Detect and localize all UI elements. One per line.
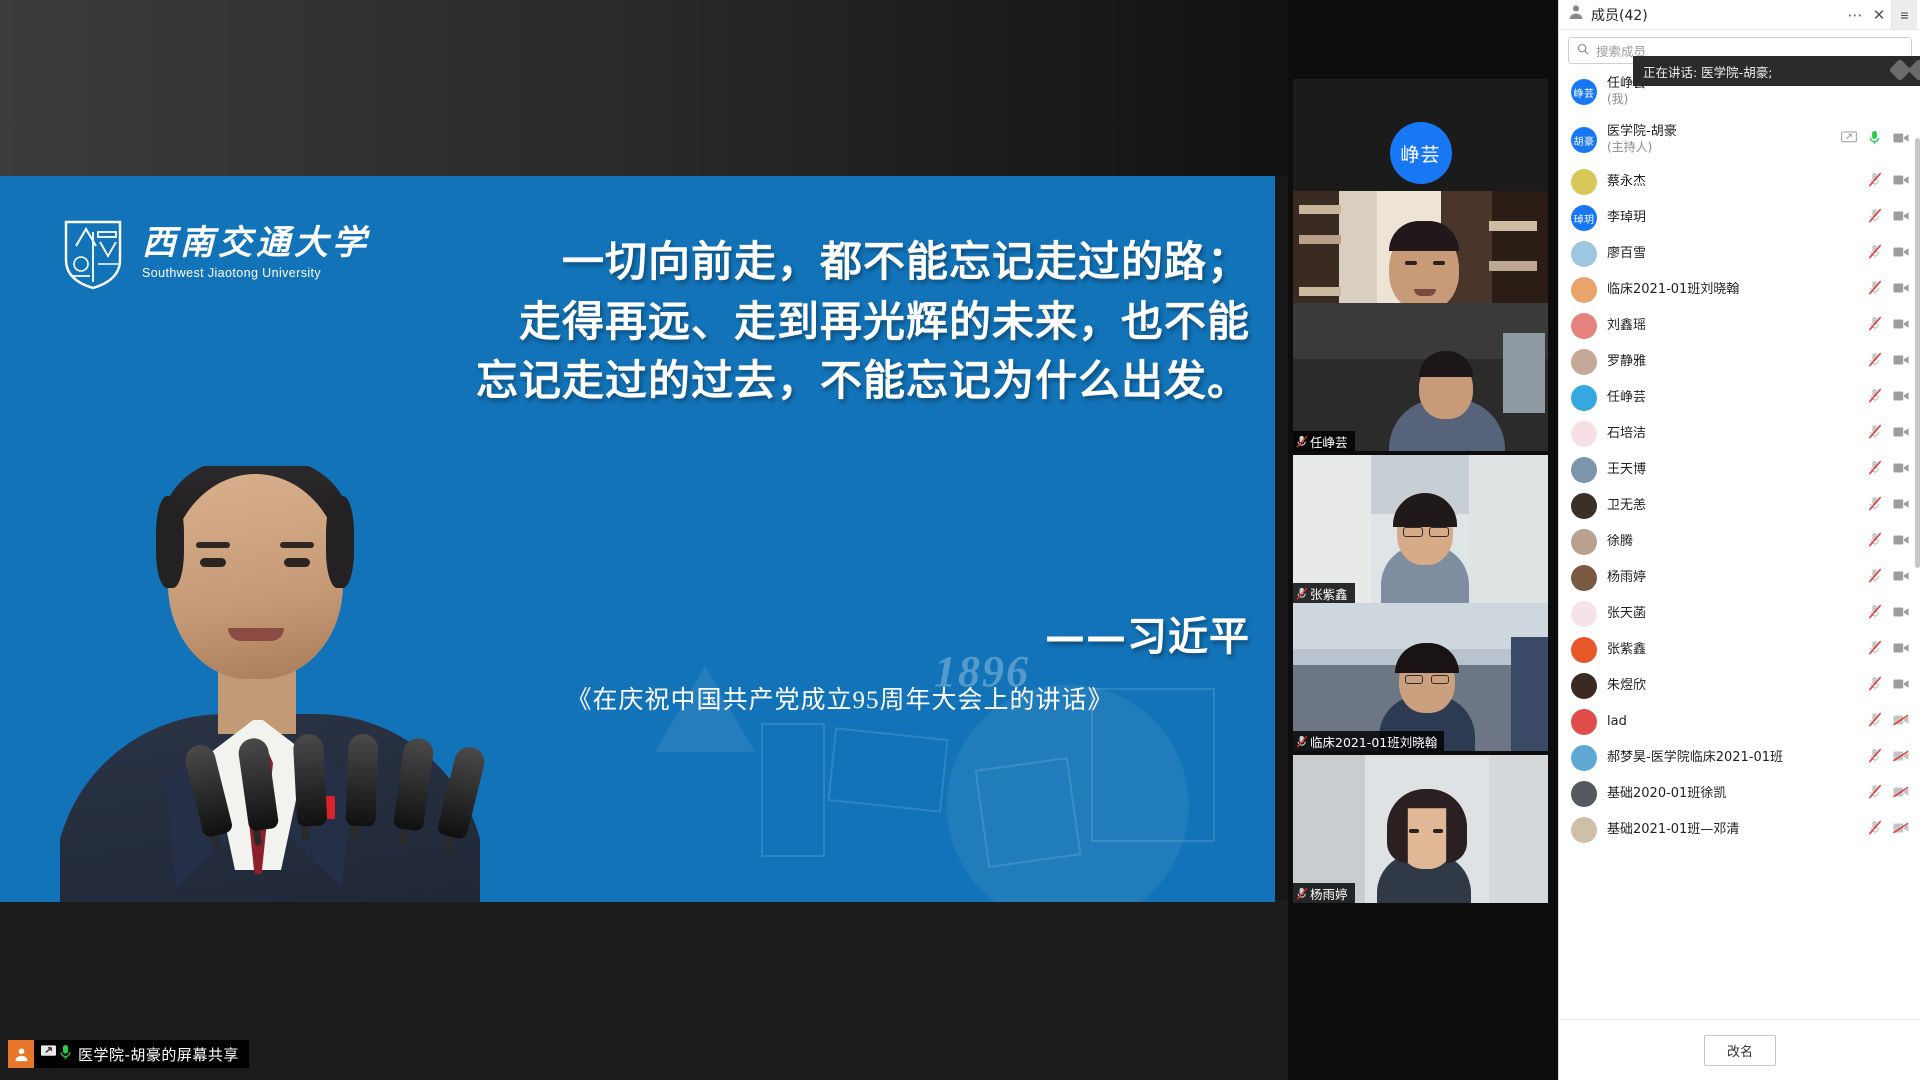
quote-line: 忘记走过的过去，不能忘记为什么出发。 (370, 351, 1250, 411)
participant-name: 基础2020-01班徐凯 (1607, 786, 1868, 802)
participant-status-icons (1868, 280, 1911, 300)
thumbnail-name: 临床2021-01班刘晓翰 (1310, 732, 1437, 751)
microphone-muted-icon (1293, 583, 1310, 603)
participants-panel-header: 成员(42) ⋯ ✕ ≡ (1559, 0, 1920, 30)
more-options-button[interactable]: ⋯ (1843, 3, 1867, 27)
microphone-muted-icon[interactable] (1868, 424, 1882, 444)
speaking-tooltip: 正在讲话: 医学院-胡豪; (1633, 56, 1920, 86)
participant-row[interactable]: 蔡永杰 (1559, 164, 1920, 200)
avatar (1571, 781, 1597, 807)
hamburger-menu-icon[interactable]: ≡ (1891, 0, 1917, 29)
avatar (1571, 565, 1597, 591)
participant-name-block: 刘鑫瑶 (1607, 318, 1868, 334)
screen-share-icon[interactable] (1841, 131, 1857, 149)
participant-row[interactable]: 基础2021-01班—邓清 (1559, 812, 1920, 848)
participant-name-block: 王天博 (1607, 462, 1868, 478)
microphone-muted-icon[interactable] (1868, 748, 1882, 768)
participant-name: 张紫鑫 (1607, 642, 1868, 658)
microphone-muted-icon[interactable] (1868, 604, 1882, 624)
participant-row[interactable]: 罗静雅 (1559, 344, 1920, 380)
participant-row[interactable]: 基础2020-01班徐凯 (1559, 776, 1920, 812)
avatar (1571, 745, 1597, 771)
camera-off-icon[interactable] (1893, 785, 1909, 803)
participant-row[interactable]: 杨雨婷 (1559, 560, 1920, 596)
camera-icon[interactable] (1893, 317, 1909, 335)
participant-name: 徐腾 (1607, 534, 1868, 550)
participant-name: lad (1607, 714, 1868, 730)
camera-icon[interactable] (1893, 641, 1909, 659)
participant-name-block: 张天菡 (1607, 606, 1868, 622)
camera-icon[interactable] (1893, 461, 1909, 479)
participant-name: 基础2021-01班—邓清 (1607, 822, 1868, 838)
avatar (1571, 529, 1597, 555)
participant-status-icons (1868, 244, 1911, 264)
avatar (1571, 313, 1597, 339)
participant-name-block: 徐腾 (1607, 534, 1868, 550)
avatar (1571, 457, 1597, 483)
avatar: 琸玥 (1571, 205, 1597, 231)
participant-row[interactable]: 琸玥李琸玥 (1559, 200, 1920, 236)
participant-status-icons (1868, 208, 1911, 228)
participant-name: 刘鑫瑶 (1607, 318, 1868, 334)
speaking-tooltip-text: 正在讲话: 医学院-胡豪; (1643, 62, 1772, 81)
microphone-muted-icon (1293, 731, 1310, 751)
microphone-muted-icon (1293, 431, 1310, 451)
avatar (1571, 241, 1597, 267)
participant-name: 郝梦昊-医学院临床2021-01班 (1607, 750, 1868, 766)
participant-row[interactable]: 张紫鑫 (1559, 632, 1920, 668)
speaker-photo (60, 466, 480, 902)
participant-name: 卫无恙 (1607, 498, 1868, 514)
participant-row[interactable]: 卫无恙 (1559, 488, 1920, 524)
participant-status-icons (1868, 496, 1911, 516)
participant-name: 石培洁 (1607, 426, 1868, 442)
camera-icon[interactable] (1893, 497, 1909, 515)
stage-top-letterbox (0, 0, 1288, 176)
search-icon (1577, 42, 1589, 60)
participant-row[interactable]: 郝梦昊-医学院临床2021-01班 (1559, 740, 1920, 776)
microphone-muted-icon[interactable] (1868, 712, 1882, 732)
thumbnail-name-label: 杨雨婷 (1293, 883, 1355, 903)
avatar (1571, 493, 1597, 519)
avatar (1571, 601, 1597, 627)
participants-list[interactable]: 峥芸任峥芸(我)胡豪医学院-胡豪(主持人)蔡永杰琸玥李琸玥廖百雪临床2021-0… (1559, 68, 1920, 1020)
participant-name: 杨雨婷 (1607, 570, 1868, 586)
camera-off-icon[interactable] (1893, 749, 1909, 767)
rename-button[interactable]: 改名 (1704, 1035, 1776, 1066)
screen-share-icon (40, 1044, 57, 1064)
slide-attribution: ——习近平 《在庆祝中国共产党成立95周年大会上的讲话》 (520, 604, 1250, 716)
screen-share-label: 医学院-胡豪的屏幕共享 (78, 1044, 239, 1065)
thumbnail-tile[interactable]: 杨雨婷 (1293, 755, 1548, 903)
participant-status-icons (1868, 712, 1911, 732)
camera-icon[interactable] (1893, 353, 1909, 371)
participant-status-icons (1868, 424, 1911, 444)
participant-name-block: 廖百雪 (1607, 246, 1868, 262)
participant-status-icons (1868, 532, 1911, 552)
presentation-slide: 1896 (0, 176, 1275, 902)
participant-name: 任峥芸 (1607, 390, 1868, 406)
camera-icon[interactable] (1893, 533, 1909, 551)
participant-status-icons (1868, 460, 1911, 480)
participants-panel-footer: 改名 (1559, 1019, 1920, 1080)
thumbnail-name: 张紫鑫 (1310, 584, 1348, 603)
camera-icon[interactable] (1893, 677, 1909, 695)
participant-role-tag: (我) (1607, 92, 1868, 108)
camera-icon[interactable] (1893, 245, 1909, 263)
camera-icon[interactable] (1893, 569, 1909, 587)
microphone-muted-icon[interactable] (1868, 784, 1882, 804)
microphone-muted-icon[interactable] (1868, 532, 1882, 552)
tooltip-decoration (1892, 62, 1920, 78)
scrollbar-thumb[interactable] (1915, 138, 1920, 568)
microphone-muted-icon[interactable] (1868, 280, 1882, 300)
microphone-muted-icon[interactable] (1868, 172, 1882, 192)
participant-name-block: 石培洁 (1607, 426, 1868, 442)
participant-name: 医学院-胡豪 (1607, 124, 1841, 140)
thumbnail-tile[interactable]: 张紫鑫 (1293, 455, 1548, 603)
participant-status-icons (1868, 748, 1911, 768)
camera-icon[interactable] (1893, 131, 1909, 149)
thumbnail-name-label: 临床2021-01班刘晓翰 (1293, 731, 1444, 751)
participant-name: 罗静雅 (1607, 354, 1868, 370)
thumbnail-avatar: 峥芸 (1390, 122, 1452, 184)
participant-row[interactable]: 徐腾 (1559, 524, 1920, 560)
participant-status-icons (1868, 820, 1911, 840)
participant-row[interactable]: lad (1559, 704, 1920, 740)
participant-name-block: 罗静雅 (1607, 354, 1868, 370)
participants-count-title: 成员(42) (1591, 5, 1843, 25)
slide-deco-shape (761, 723, 825, 857)
thumbnail-tile[interactable]: 任峥芸 (1293, 303, 1548, 451)
thumbnail-name-label: 任峥芸 (1293, 431, 1355, 451)
participant-role-tag: (主持人) (1607, 140, 1841, 156)
participant-row[interactable]: 临床2021-01班刘晓翰 (1559, 272, 1920, 308)
participant-row[interactable]: 朱煜欣 (1559, 668, 1920, 704)
close-panel-button[interactable]: ✕ (1867, 3, 1891, 27)
thumbnail-name-label: 张紫鑫 (1293, 583, 1355, 603)
avatar (1571, 277, 1597, 303)
camera-icon[interactable] (1893, 173, 1909, 191)
camera-icon[interactable] (1893, 389, 1909, 407)
microphone-muted-icon[interactable] (1868, 460, 1882, 480)
participants-panel[interactable]: 成员(42) ⋯ ✕ ≡ 搜索成员 峥芸任峥芸(我)胡豪医学院-胡豪(主持人)蔡… (1558, 0, 1920, 1080)
participant-row[interactable]: 任峥芸 (1559, 380, 1920, 416)
logo-chinese-name: 西南交通大学 (142, 227, 370, 261)
video-thumbnail-strip[interactable]: 峥芸 任峥芸 (1288, 0, 1558, 1080)
avatar (1571, 709, 1597, 735)
avatar (1571, 349, 1597, 375)
participant-row[interactable]: 胡豪医学院-胡豪(主持人) (1559, 116, 1920, 164)
participant-status-icons (1868, 676, 1911, 696)
participant-name: 廖百雪 (1607, 246, 1868, 262)
avatar (1571, 817, 1597, 843)
microphone-muted-icon[interactable] (1868, 244, 1882, 264)
participant-row[interactable]: 王天博 (1559, 452, 1920, 488)
quote-line: 走得再远、走到再光辉的未来，也不能 (370, 292, 1250, 352)
microphone-muted-icon[interactable] (1868, 640, 1882, 660)
participant-name-block: 张紫鑫 (1607, 642, 1868, 658)
participant-name: 王天博 (1607, 462, 1868, 478)
participant-name-block: lad (1607, 714, 1868, 730)
participant-name-block: 基础2020-01班徐凯 (1607, 786, 1868, 802)
microphone-muted-icon[interactable] (1868, 568, 1882, 588)
participant-name: 张天菡 (1607, 606, 1868, 622)
participant-status-icons (1868, 352, 1911, 372)
screen-share-status-bar: 医学院-胡豪的屏幕共享 (8, 1040, 249, 1068)
avatar (1571, 637, 1597, 663)
microphone-muted-icon[interactable] (1868, 388, 1882, 408)
microphone-icon (59, 1044, 72, 1065)
microphone-icon[interactable] (1868, 130, 1882, 150)
avatar (1571, 385, 1597, 411)
participant-name: 朱煜欣 (1607, 678, 1868, 694)
quote-author: ——习近平 (520, 604, 1250, 662)
avatar (1571, 673, 1597, 699)
participant-name: 李琸玥 (1607, 210, 1868, 226)
participant-name-block: 朱煜欣 (1607, 678, 1868, 694)
participant-status-icons (1841, 130, 1911, 150)
camera-off-icon[interactable] (1893, 713, 1909, 731)
microphone-muted-icon[interactable] (1868, 496, 1882, 516)
participant-row[interactable]: 石培洁 (1559, 416, 1920, 452)
participant-status-icons (1868, 784, 1911, 804)
participant-status-icons (1868, 568, 1911, 588)
microphone-muted-icon[interactable] (1868, 676, 1882, 696)
participant-name-block: 郝梦昊-医学院临床2021-01班 (1607, 750, 1868, 766)
participant-status-icons (1868, 388, 1911, 408)
thumbnail-tile[interactable]: 临床2021-01班刘晓翰 (1293, 603, 1548, 751)
participant-name-block: 临床2021-01班刘晓翰 (1607, 282, 1868, 298)
avatar (1571, 421, 1597, 447)
participant-row[interactable]: 廖百雪 (1559, 236, 1920, 272)
thumbnail-name: 任峥芸 (1310, 432, 1348, 451)
microphone-muted-icon[interactable] (1868, 352, 1882, 372)
camera-icon[interactable] (1893, 281, 1909, 299)
participant-status-icons (1868, 316, 1911, 336)
participant-name-block: 任峥芸 (1607, 390, 1868, 406)
avatar: 胡豪 (1571, 127, 1597, 153)
slide-deco-shape (827, 727, 948, 813)
microphone-muted-icon[interactable] (1868, 208, 1882, 228)
camera-off-icon[interactable] (1893, 821, 1909, 839)
people-icon (1568, 4, 1584, 25)
participant-name-block: 卫无恙 (1607, 498, 1868, 514)
participant-name-block: 医学院-胡豪(主持人) (1607, 124, 1841, 156)
participant-name: 蔡永杰 (1607, 174, 1868, 190)
participant-status-icons (1868, 172, 1911, 192)
participant-status-icons (1868, 640, 1911, 660)
microphone-muted-icon (1293, 883, 1310, 903)
camera-icon[interactable] (1893, 209, 1909, 227)
participant-name-block: 基础2021-01班—邓清 (1607, 822, 1868, 838)
person-icon (8, 1040, 34, 1068)
avatar: 峥芸 (1571, 79, 1597, 105)
microphone-muted-icon[interactable] (1868, 316, 1882, 336)
participant-name-block: 李琸玥 (1607, 210, 1868, 226)
thumbnail-name: 杨雨婷 (1310, 884, 1348, 903)
quote-line: 一切向前走，都不能忘记走过的路； (370, 232, 1250, 292)
participant-row[interactable]: 刘鑫瑶 (1559, 308, 1920, 344)
shared-screen-stage[interactable]: 1896 (0, 0, 1288, 1080)
logo-english-name: Southwest Jiaotong University (142, 267, 370, 280)
university-crest-icon (62, 216, 124, 290)
camera-icon[interactable] (1893, 425, 1909, 443)
participant-status-icons (1868, 604, 1911, 624)
avatar (1571, 169, 1597, 195)
participant-name-block: 蔡永杰 (1607, 174, 1868, 190)
participant-name-block: 杨雨婷 (1607, 570, 1868, 586)
quote-source: 《在庆祝中国共产党成立95周年大会上的讲话》 (520, 680, 1250, 716)
participant-row[interactable]: 张天菡 (1559, 596, 1920, 632)
slide-deco-shape (975, 757, 1082, 868)
participants-scrollbar[interactable] (1914, 68, 1920, 1020)
university-logo: 西南交通大学 Southwest Jiaotong University (62, 216, 370, 290)
participant-name: 临床2021-01班刘晓翰 (1607, 282, 1868, 298)
camera-icon[interactable] (1893, 605, 1909, 623)
microphone-muted-icon[interactable] (1868, 820, 1882, 840)
slide-quote: 一切向前走，都不能忘记走过的路； 走得再远、走到再光辉的未来，也不能 忘记走过的… (370, 232, 1250, 411)
